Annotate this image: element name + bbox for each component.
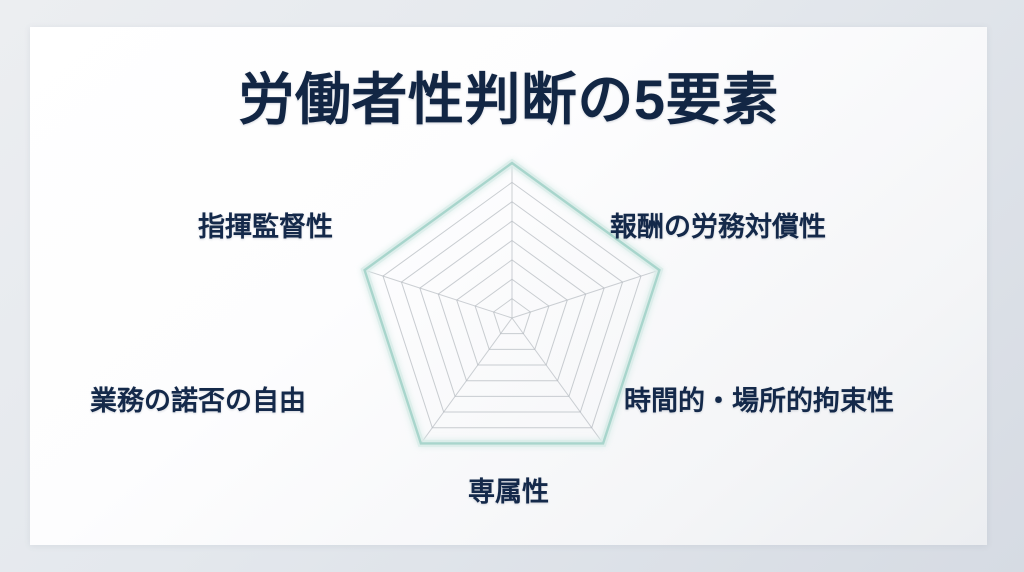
axis-label-shiki-kantokusei: 指揮監督性 xyxy=(198,205,333,244)
radar-chart: 指揮監督性 報酬の労務対償性 業務の諾否の自由 時間的・場所的拘束性 専属性 xyxy=(30,27,987,545)
axis-label-senzokusei: 専属性 xyxy=(30,470,987,509)
axis-label-jikanteki-bashoteki-kosokusei: 時間的・場所的拘束性 xyxy=(624,379,894,418)
radar-chart-svg xyxy=(332,138,692,498)
radar-axis-spoke xyxy=(365,270,512,318)
slide-canvas: 労働者性判断の5要素 指揮監督性 報酬の労務対償性 xyxy=(30,27,987,545)
axis-label-hoshu-no-romu-taishosei: 報酬の労務対償性 xyxy=(610,205,826,244)
screenshot-stage: 労働者性判断の5要素 指揮監督性 報酬の労務対償性 xyxy=(0,0,1024,572)
radar-axis-spoke xyxy=(512,270,659,318)
axis-label-gyomu-no-dakuhi-no-jiyu: 業務の諾否の自由 xyxy=(90,379,306,418)
